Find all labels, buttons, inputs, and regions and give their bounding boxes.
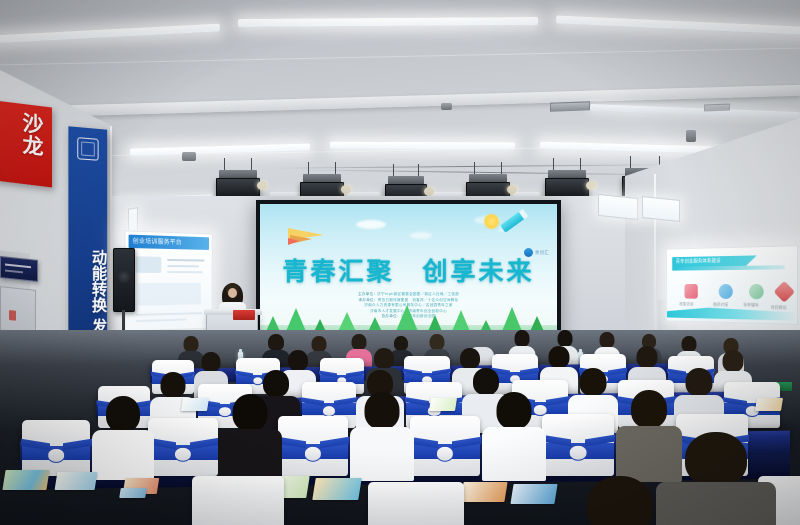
- left-display-header: 创业培训服务平台: [129, 235, 209, 250]
- brochure: [460, 482, 507, 502]
- audience-person: [482, 392, 546, 480]
- audience-person: [92, 396, 154, 480]
- conference-room-photo: 沙龙 动能转换 发展风口产业 创业培训服务平台: [0, 0, 800, 525]
- stage-light: [216, 168, 260, 198]
- panel-indicator-icon: [9, 310, 16, 321]
- audience-person: [656, 432, 776, 525]
- brochure: [755, 398, 783, 411]
- incubation-icon: [774, 281, 796, 303]
- left-wall-display: 创业培训服务平台: [124, 230, 212, 331]
- right-display-header-text: 青年创业服务体系建设: [676, 257, 721, 265]
- audience-person: [218, 394, 282, 480]
- subtitle-text: 济宁high新区管委会团委／新区人社局／工信部: [377, 292, 459, 296]
- right-display-header-bar: [672, 265, 784, 270]
- brochure: [510, 484, 557, 504]
- ceiling-vent: [704, 104, 730, 112]
- subtitle-label: 主办单位：: [358, 292, 377, 296]
- left-display-header-text: 创业培训服务平台: [133, 236, 213, 247]
- audience-chair: [22, 420, 90, 476]
- brochure: [312, 478, 361, 500]
- smoke-detector-icon: [686, 130, 696, 142]
- right-display-label: 项目孵化: [771, 305, 787, 311]
- audience-chair: [410, 416, 480, 476]
- subtitle-text: 青岛日报传媒集团 创客邦／十名众创空间孵化: [378, 298, 459, 302]
- speaker-cone-icon: [118, 270, 131, 283]
- projection-screen: 青创汇 青春汇聚 创享未来 主办单位：济宁high新区管委会团委／新区人社局／工…: [256, 200, 561, 340]
- brochure: [55, 472, 98, 490]
- banner-emblem-icon: [77, 137, 98, 161]
- audience-person: [350, 392, 414, 480]
- subtitle-label: 承办单位：: [359, 298, 378, 302]
- right-display-label: 导师辅导: [743, 302, 759, 308]
- audience-chair: [368, 482, 464, 525]
- cloud-icon: [356, 220, 386, 229]
- audience-chair: [192, 476, 284, 525]
- right-display-label: 融资对接: [713, 302, 728, 308]
- pencil-icon: [495, 209, 528, 237]
- mentor-icon: [749, 284, 764, 299]
- right-wall-display: 青年创业服务体系建设 政策咨询 融资对接 导师辅导 项目孵化: [666, 245, 798, 325]
- red-hanging-banner: 沙龙: [0, 100, 52, 187]
- brochure: [119, 488, 147, 498]
- slide-title: 青春汇聚 创享未来: [260, 252, 557, 288]
- podium-red-item: [233, 310, 255, 320]
- strip-light: [330, 142, 515, 150]
- cloud-icon: [410, 232, 432, 239]
- stage-light: [545, 168, 589, 198]
- loudspeaker: [113, 248, 135, 312]
- ceiling-vent: [550, 101, 590, 111]
- window: [598, 194, 638, 220]
- presenter-face: [228, 288, 237, 298]
- brochure: [181, 398, 209, 411]
- slide-canvas: 青创汇 青春汇聚 创享未来 主办单位：济宁high新区管委会团委／新区人社局／工…: [260, 204, 557, 336]
- smoke-detector-icon: [182, 152, 196, 161]
- funding-icon: [719, 284, 733, 299]
- brochure: [2, 470, 49, 490]
- wall-sign: [0, 256, 38, 282]
- brochure: [429, 398, 457, 411]
- window: [642, 196, 680, 222]
- smoke-detector-icon: [441, 103, 452, 110]
- audience-chair: [278, 416, 348, 476]
- audience-chair: [542, 414, 614, 476]
- policy-icon: [684, 284, 697, 299]
- paper-plane-icon: [288, 222, 332, 246]
- red-banner-text: 沙龙: [18, 111, 48, 159]
- right-display-label: 政策咨询: [679, 301, 693, 307]
- audience-chair: [148, 418, 218, 476]
